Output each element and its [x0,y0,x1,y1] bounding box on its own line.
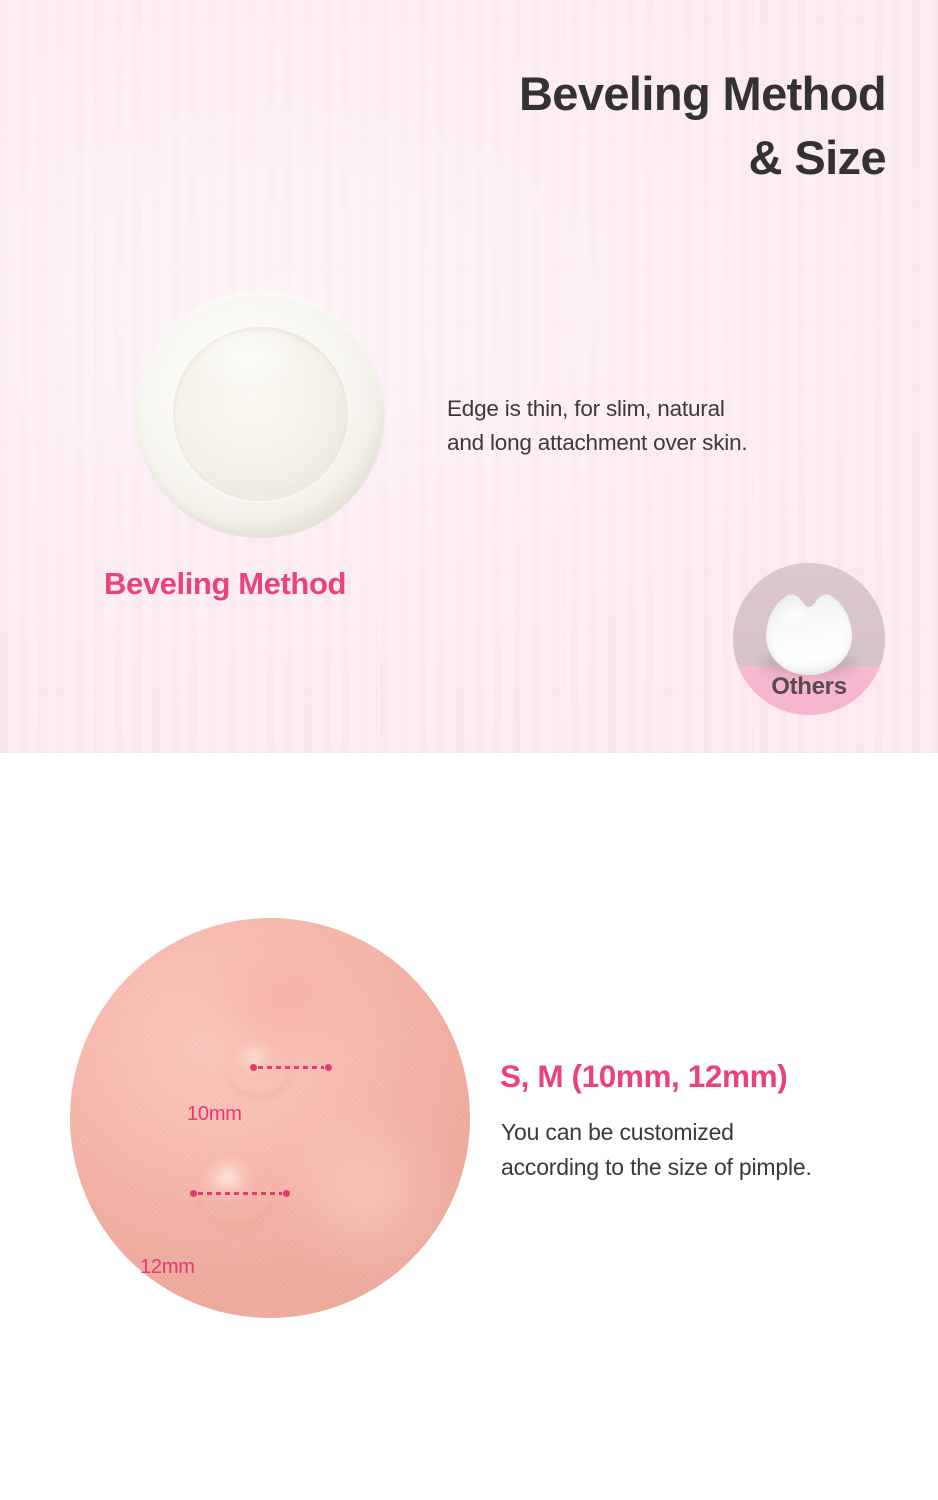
measure-line-12mm [190,1188,290,1198]
product-detail-page: Beveling Method & Size Edge is thin, for… [0,0,938,1500]
size-title: S, M (10mm, 12mm) [500,1058,787,1095]
measure-endpoint-dot [325,1064,332,1071]
measure-endpoint-dot [190,1190,197,1197]
page-title: Beveling Method & Size [266,62,886,191]
skin-circle [70,918,470,1318]
beveling-description: Edge is thin, for slim, natural and long… [447,392,917,460]
size-description: You can be customized according to the s… [501,1115,921,1185]
others-badge-label: Others [733,673,885,701]
measure-endpoint-dot [250,1064,257,1071]
measure-label-12mm: 12mm [140,1256,195,1279]
skin-with-pimples-photo [70,918,470,1318]
beveling-description-line-1: Edge is thin, for slim, natural [447,392,917,426]
measure-dashed-line [258,1066,324,1069]
beveling-description-line-2: and long attachment over skin. [447,426,917,460]
size-description-line-1: You can be customized [501,1115,921,1150]
size-description-line-2: according to the size of pimple. [501,1150,921,1185]
patch-gloss-highlight [187,319,309,393]
measure-label-10mm: 10mm [187,1103,242,1126]
page-title-line-1: Beveling Method [266,62,886,126]
skin-highlight [278,1102,462,1286]
measure-endpoint-dot [283,1190,290,1197]
measure-line-10mm [250,1062,332,1072]
page-title-line-2: & Size [266,126,886,190]
chip-gloss-highlight [777,603,811,629]
others-comparison-badge: Others [733,563,885,715]
beveling-method-label: Beveling Method [104,566,346,602]
measure-dashed-line [198,1192,282,1195]
beveled-patch-illustration [135,291,385,540]
